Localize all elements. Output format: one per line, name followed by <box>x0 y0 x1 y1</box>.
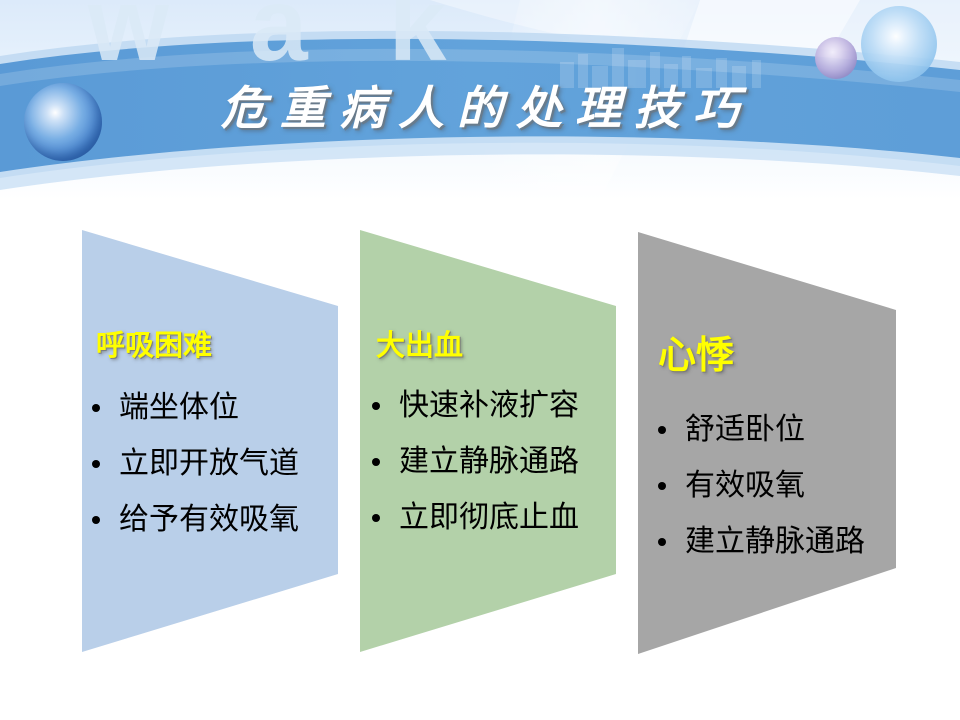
bullet-text: 建立静脉通路 <box>658 514 865 570</box>
panel-heading-breathing: 呼吸困难 <box>96 322 212 364</box>
bullet-list-hemorrhage: 快速补液扩容 建立静脉通路 立即彻底止血 <box>372 378 579 546</box>
slide-canvas: w a k 危重病人的处理技巧 呼吸困难 端坐体位 立即开放气道 <box>0 0 960 720</box>
bullet-text: 快速补液扩容 <box>372 378 579 434</box>
panel-heading-hemorrhage: 大出血 <box>376 322 463 364</box>
bullet-list-breathing: 端坐体位 立即开放气道 给予有效吸氧 <box>92 380 299 548</box>
bullet-list-palpitation: 舒适卧位 有效吸氧 建立静脉通路 <box>658 402 865 570</box>
list-item: 快速补液扩容 <box>372 378 579 434</box>
bullet-text: 端坐体位 <box>92 380 239 436</box>
bullet-dot-icon <box>658 426 666 434</box>
panel-heading-palpitation: 心悸 <box>658 324 734 379</box>
bullet-dot-icon <box>372 458 380 466</box>
panel-palpitation[interactable]: 心悸 舒适卧位 有效吸氧 建立静脉通路 <box>630 224 920 666</box>
bullet-text: 给予有效吸氧 <box>92 492 299 548</box>
bullet-dot-icon <box>658 538 666 546</box>
bullet-dot-icon <box>658 482 666 490</box>
bullet-text: 立即开放气道 <box>92 436 299 492</box>
bullet-text: 建立静脉通路 <box>372 434 579 490</box>
header-banner: w a k 危重病人的处理技巧 <box>0 0 960 200</box>
list-item: 端坐体位 <box>92 380 299 436</box>
list-item: 建立静脉通路 <box>658 514 865 570</box>
panel-hemorrhage[interactable]: 大出血 快速补液扩容 建立静脉通路 立即彻底止血 <box>352 222 632 664</box>
bullet-dot-icon <box>92 404 100 412</box>
list-item: 舒适卧位 <box>658 402 865 458</box>
bullet-text: 舒适卧位 <box>658 402 805 458</box>
list-item: 建立静脉通路 <box>372 434 579 490</box>
bullet-dot-icon <box>92 460 100 468</box>
bullet-dot-icon <box>372 402 380 410</box>
panel-breathing[interactable]: 呼吸困难 端坐体位 立即开放气道 给予有效吸氧 <box>74 222 354 664</box>
list-item: 立即彻底止血 <box>372 490 579 546</box>
list-item: 立即开放气道 <box>92 436 299 492</box>
list-item: 有效吸氧 <box>658 458 865 514</box>
slide-title: 危重病人的处理技巧 <box>0 72 960 138</box>
bullet-dot-icon <box>372 514 380 522</box>
bullet-text: 立即彻底止血 <box>372 490 579 546</box>
bullet-dot-icon <box>92 516 100 524</box>
list-item: 给予有效吸氧 <box>92 492 299 548</box>
bullet-text: 有效吸氧 <box>658 458 805 514</box>
